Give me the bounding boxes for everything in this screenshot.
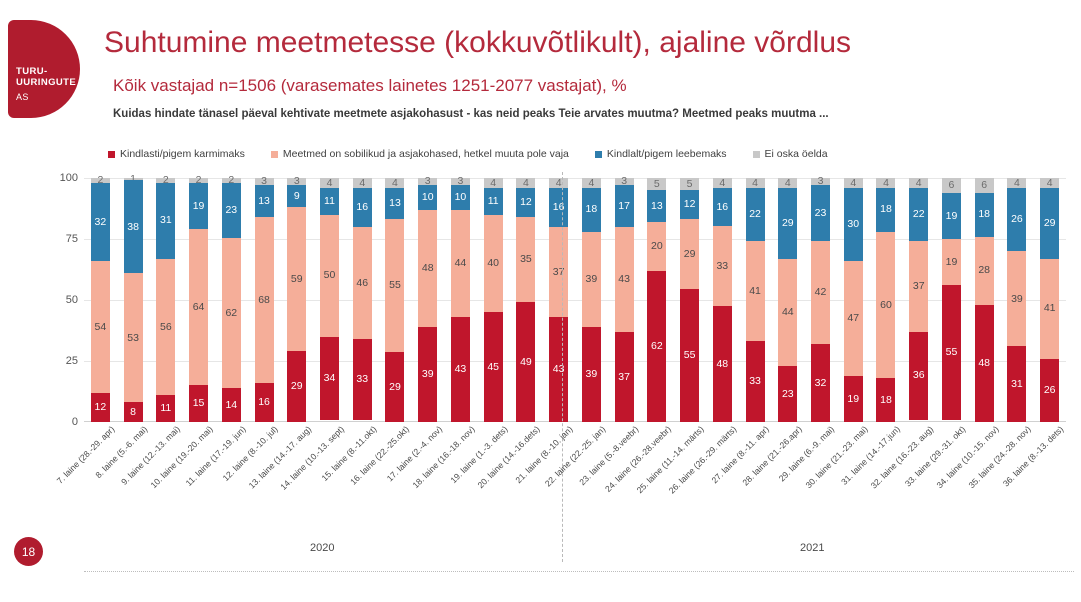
bar-segment-value: 11	[324, 196, 335, 207]
bar-segment-value: 60	[880, 300, 892, 311]
stacked-bar[interactable]: 2196415	[189, 178, 208, 422]
bar-segment[interactable]: 33	[353, 339, 372, 420]
bar-segment[interactable]: 55	[942, 285, 961, 419]
bar-column[interactable]: 3174337	[608, 178, 641, 422]
bar-segment-value: 23	[782, 389, 794, 400]
logo-line-3: AS	[16, 92, 29, 102]
bar-segment[interactable]: 11	[156, 395, 175, 422]
bar-segment-value: 19	[847, 394, 859, 405]
bar-segment-value: 50	[324, 270, 336, 281]
stacked-bar[interactable]: 2315611	[156, 178, 175, 422]
bar-segment-value: 5	[687, 179, 693, 190]
bar-segment-value: 4	[883, 178, 889, 189]
bar-segment-value: 55	[946, 347, 958, 358]
bar-segment[interactable]: 11	[320, 188, 339, 215]
legend-swatch-icon	[271, 151, 278, 158]
y-axis-tick-label: 0	[72, 416, 78, 428]
bar-segment[interactable]: 19	[189, 183, 208, 229]
bar-segment-value: 29	[684, 249, 696, 260]
bar-segment[interactable]: 26	[1007, 188, 1026, 251]
bar-column[interactable]: 4115034	[313, 178, 346, 422]
stacked-bar[interactable]: 4164633	[353, 178, 372, 422]
bar-segment[interactable]: 29	[778, 188, 797, 259]
bar-segment-value: 6	[949, 180, 955, 191]
bar-segment-value: 48	[978, 358, 990, 369]
bar-segment-value: 22	[913, 209, 925, 220]
bar-segment[interactable]: 34	[320, 337, 339, 420]
page-title: Suhtumine meetmetesse (kokkuvõtlikult), …	[104, 26, 851, 60]
bar-segment[interactable]: 62	[222, 238, 241, 388]
bar-segment-value: 8	[130, 407, 136, 418]
bar-segment[interactable]: 29	[680, 219, 699, 289]
legend-item[interactable]: Ei oska öelda	[753, 148, 828, 160]
bar-segment[interactable]: 54	[91, 261, 110, 393]
bar-segment[interactable]: 12	[516, 188, 535, 217]
bar-segment-value: 5	[654, 179, 660, 190]
bar-segment-value: 29	[782, 218, 794, 229]
bar-segment[interactable]: 23	[811, 185, 830, 241]
bar-segment[interactable]: 43	[451, 317, 470, 422]
bar-segment-value: 48	[716, 359, 728, 370]
bar-segment[interactable]: 37	[615, 332, 634, 422]
bar-segment[interactable]: 39	[582, 327, 601, 422]
bar-segment-value: 62	[651, 341, 663, 352]
bar-segment[interactable]: 20	[647, 222, 666, 271]
bar-segment-value: 40	[487, 258, 499, 269]
bar-segment[interactable]: 53	[124, 273, 143, 402]
bar-segment-value: 11	[488, 196, 499, 207]
bar-segment-value: 29	[291, 381, 303, 392]
legend-label: Kindlalt/pigem leebemaks	[607, 148, 727, 160]
bar-segment[interactable]: 14	[222, 388, 241, 422]
bar-segment[interactable]: 56	[156, 259, 175, 396]
bar-segment-value: 19	[946, 211, 958, 222]
stacked-bar[interactable]: 4183939	[582, 178, 601, 422]
bar-segment-value: 39	[586, 369, 598, 380]
bar-segment-value: 33	[716, 261, 728, 272]
bar-segment-value: 48	[422, 263, 434, 274]
bar-segment[interactable]: 4	[385, 178, 404, 188]
bar-segment[interactable]: 42	[811, 241, 830, 343]
bar-column[interactable]: 5122955	[673, 178, 706, 422]
bar-segment[interactable]: 62	[647, 271, 666, 422]
bar-column[interactable]: 5132062	[640, 178, 673, 422]
bar-segment[interactable]: 60	[876, 232, 895, 378]
bar-segment-value: 4	[752, 178, 758, 189]
x-axis-tick-label: 23. laine (5.-8.veebr)	[577, 424, 640, 487]
legend-label: Kindlasti/pigem karmimaks	[120, 148, 245, 160]
chart-subtitle: Kõik vastajad n=1506 (varasemates lainet…	[113, 76, 627, 96]
bar-column[interactable]: 4186018	[870, 178, 903, 422]
bar-segment[interactable]: 43	[615, 227, 634, 332]
stacked-bar[interactable]: 5132062	[647, 178, 666, 422]
bar-segment-value: 64	[193, 302, 205, 313]
stacked-bar[interactable]: 3136816	[255, 178, 274, 422]
bar-segment-value: 4	[1047, 178, 1053, 189]
bar-segment-value: 43	[618, 274, 630, 285]
bar-segment-value: 39	[1011, 294, 1023, 305]
stacked-bar[interactable]: 395929	[287, 178, 306, 422]
bar-segment[interactable]: 8	[124, 402, 143, 422]
bar-segment[interactable]: 45	[484, 312, 503, 422]
bar-segment[interactable]: 5	[647, 178, 666, 190]
bar-segment-value: 20	[651, 241, 663, 252]
x-axis-tick-label: 9. laine (12.-13. mai)	[119, 424, 182, 487]
legend-swatch-icon	[753, 151, 760, 158]
bar-segment-value: 43	[455, 364, 467, 375]
bar-column[interactable]: 4294423	[771, 178, 804, 422]
bar-column[interactable]: 4164633	[346, 178, 379, 422]
bar-segment[interactable]: 23	[222, 183, 241, 239]
stacked-bar[interactable]: 5122955	[680, 178, 699, 422]
y-axis-tick-label: 75	[66, 233, 78, 245]
bar-segment[interactable]: 26	[1040, 359, 1059, 422]
x-axis-tick-label: 35. laine (24.-28. nov)	[967, 424, 1033, 490]
bar-segment-value: 4	[490, 178, 496, 189]
bar-segment-value: 32	[95, 217, 107, 228]
bar-segment-value: 15	[193, 398, 205, 409]
bar-segment-value: 46	[356, 278, 368, 289]
bar-segment-value: 10	[455, 192, 467, 203]
bar-segment[interactable]: 15	[189, 385, 208, 422]
stacked-bar[interactable]: 2236214	[222, 178, 241, 422]
bar-segment[interactable]: 39	[1007, 251, 1026, 346]
x-axis-tick-label: 31. laine (14.-17.jun)	[839, 424, 902, 487]
bar-column[interactable]: 4163743	[542, 178, 575, 422]
stacked-bar[interactable]: 3104443	[451, 178, 470, 422]
bar-segment[interactable]: 19	[844, 376, 863, 422]
bar-segment[interactable]: 4	[549, 178, 568, 188]
bar-segment-value: 49	[520, 357, 532, 368]
stacked-bar[interactable]: 3104839	[418, 178, 437, 422]
bar-segment[interactable]: 29	[287, 351, 306, 422]
stacked-bar[interactable]: 138538	[124, 178, 143, 422]
bar-segment-value: 9	[294, 191, 300, 202]
bar-segment[interactable]: 3	[811, 178, 830, 185]
bar-segment[interactable]: 29	[385, 352, 404, 422]
bar-segment[interactable]: 4	[320, 178, 339, 188]
bar-segment[interactable]: 33	[713, 226, 732, 306]
x-axis-tick-label: 7. laine (28.-29. apr)	[55, 424, 117, 486]
bar-segment[interactable]: 55	[385, 219, 404, 352]
bar-segment[interactable]: 12	[91, 393, 110, 422]
bar-segment-value: 54	[95, 322, 107, 333]
bar-segment[interactable]: 44	[451, 210, 470, 317]
bar-column[interactable]: 3136816	[248, 178, 281, 422]
bar-segment[interactable]: 10	[451, 185, 470, 209]
bar-segment[interactable]: 50	[320, 215, 339, 337]
bar-segment[interactable]: 18	[582, 188, 601, 232]
x-axis-tick-label: 19. laine (1.-3. dets)	[448, 424, 509, 485]
bar-segment[interactable]: 32	[811, 344, 830, 422]
bar-segment-value: 41	[1044, 303, 1056, 314]
bar-segment[interactable]: 4	[516, 178, 535, 188]
bar-segment[interactable]: 18	[876, 188, 895, 232]
bar-segment-value: 36	[913, 370, 925, 381]
bar-segment-value: 33	[749, 376, 761, 387]
bar-segment-value: 38	[127, 222, 139, 233]
x-axis-tick-label: 16. laine (22.-25.okt)	[348, 424, 411, 487]
x-axis-tick-label: 14. laine (10.-13. sept)	[278, 424, 346, 492]
bar-column[interactable]: 4224133	[739, 178, 772, 422]
stacked-bar[interactable]: 3234232	[811, 178, 830, 422]
stacked-bar[interactable]: 4114045	[484, 178, 503, 422]
bar-segment-value: 4	[588, 178, 594, 189]
y-axis-tick-label: 25	[66, 355, 78, 367]
bar-column[interactable]: 395929	[280, 178, 313, 422]
bar-segment[interactable]: 13	[385, 188, 404, 219]
bar-segment[interactable]: 16	[353, 188, 372, 227]
stacked-bar[interactable]: 4304719	[844, 178, 863, 422]
bar-segment[interactable]: 49	[516, 302, 535, 422]
bar-segment-value: 12	[520, 197, 532, 208]
bar-segment[interactable]: 4	[746, 178, 765, 188]
bar-segment[interactable]: 16	[549, 188, 568, 227]
bar-segment-value: 31	[1011, 379, 1023, 390]
bar-column[interactable]: 4223736	[902, 178, 935, 422]
stacked-bar[interactable]: 4163743	[549, 178, 568, 422]
bar-group-container: 2325412138538231561121964152236214313681…	[84, 178, 1066, 422]
x-axis-tick-label: 10. laine (19.-20. mai)	[148, 424, 214, 490]
bar-segment[interactable]: 22	[909, 188, 928, 242]
bar-segment-value: 39	[586, 274, 598, 285]
bar-segment[interactable]: 4	[484, 178, 503, 188]
bar-segment-value: 28	[978, 265, 990, 276]
bar-segment[interactable]: 6	[942, 178, 961, 193]
bar-column[interactable]: 2325412	[84, 178, 117, 422]
bar-segment-value: 23	[815, 208, 827, 219]
bar-segment-value: 55	[684, 350, 696, 361]
bar-segment[interactable]: 3	[287, 178, 306, 185]
legend-item[interactable]: Kindlalt/pigem leebemaks	[595, 148, 727, 160]
year-band-2021: 2021	[800, 542, 824, 554]
stacked-bar[interactable]: 6182848	[975, 178, 994, 422]
bar-segment[interactable]: 37	[549, 227, 568, 317]
bar-segment-value: 18	[880, 204, 892, 215]
bar-segment-value: 53	[127, 333, 139, 344]
bar-segment[interactable]: 48	[713, 306, 732, 422]
bar-segment-value: 6	[981, 180, 987, 191]
y-axis-tick-label: 50	[66, 294, 78, 306]
legend-swatch-icon	[108, 151, 115, 158]
bar-column[interactable]: 4163348	[706, 178, 739, 422]
bar-segment[interactable]: 4	[1007, 178, 1026, 188]
bar-segment-value: 16	[258, 397, 270, 408]
bar-segment-value: 16	[356, 202, 368, 213]
bar-segment[interactable]: 36	[909, 332, 928, 420]
bar-segment[interactable]: 38	[124, 180, 143, 273]
bar-segment[interactable]: 12	[680, 190, 699, 219]
bar-segment-value: 11	[160, 403, 171, 414]
bar-column[interactable]: 4183939	[575, 178, 608, 422]
bar-segment-value: 16	[716, 202, 728, 213]
bar-column[interactable]: 2236214	[215, 178, 248, 422]
bar-segment-value: 33	[356, 374, 368, 385]
bar-segment-value: 19	[946, 257, 958, 268]
bar-segment[interactable]: 4	[713, 178, 732, 188]
stacked-bar[interactable]: 4135529	[385, 178, 404, 422]
bar-segment-value: 56	[160, 322, 172, 333]
bar-segment[interactable]: 4	[778, 178, 797, 188]
stacked-bar[interactable]: 6191955	[942, 178, 961, 422]
stacked-bar[interactable]: 4163348	[713, 178, 732, 422]
bar-segment-value: 31	[160, 215, 172, 226]
bar-column[interactable]: 4304719	[837, 178, 870, 422]
bar-segment[interactable]: 68	[255, 217, 274, 383]
stacked-bar[interactable]: 4224133	[746, 178, 765, 422]
bar-segment[interactable]: 5	[680, 178, 699, 190]
stacked-bar[interactable]: 4115034	[320, 178, 339, 422]
bar-segment[interactable]: 59	[287, 207, 306, 351]
bar-segment[interactable]: 4	[353, 178, 372, 188]
bar-segment-value: 4	[850, 178, 856, 189]
bar-column[interactable]: 4135529	[379, 178, 412, 422]
bar-segment[interactable]: 4	[1040, 178, 1059, 188]
bar-segment-value: 42	[815, 287, 827, 298]
x-axis-labels: 7. laine (28.-29. apr)8. laine (5.-6. ma…	[84, 424, 1066, 534]
bar-column[interactable]: 6182848	[968, 178, 1001, 422]
bar-segment[interactable]: 10	[418, 185, 437, 209]
bar-column[interactable]: 3104839	[411, 178, 444, 422]
bar-segment[interactable]: 32	[91, 183, 110, 261]
stacked-bar[interactable]: 4263931	[1007, 178, 1026, 422]
bar-column[interactable]: 6191955	[935, 178, 968, 422]
x-axis-tick-label: 21. laine (8.-10. jan)	[514, 424, 575, 485]
bar-segment[interactable]: 31	[1007, 346, 1026, 422]
bar-column[interactable]: 2196415	[182, 178, 215, 422]
stacked-bar[interactable]: 4223736	[909, 178, 928, 422]
bar-segment-value: 18	[978, 209, 990, 220]
stacked-bar[interactable]: 2325412	[91, 178, 110, 422]
bar-segment-value: 37	[618, 372, 630, 383]
bar-column[interactable]: 4294126	[1033, 178, 1066, 422]
bar-segment[interactable]: 18	[975, 193, 994, 237]
x-axis-tick-label: 30. laine (21.-23. mai)	[803, 424, 869, 490]
bar-segment[interactable]: 3	[451, 178, 470, 185]
bar-segment[interactable]: 37	[909, 241, 928, 331]
bar-segment[interactable]: 3	[418, 178, 437, 185]
bar-segment[interactable]: 13	[255, 185, 274, 217]
bar-segment[interactable]: 18	[876, 378, 895, 422]
bar-segment-value: 29	[389, 382, 401, 393]
bar-column[interactable]: 3234232	[804, 178, 837, 422]
bar-segment-value: 13	[258, 196, 270, 207]
bar-column[interactable]: 4123549	[510, 178, 543, 422]
chart-legend: Kindlasti/pigem karmimaksMeetmed on sobi…	[108, 148, 854, 160]
x-axis-tick-label: 13. laine (14.-17. aug)	[246, 424, 313, 491]
legend-item[interactable]: Kindlasti/pigem karmimaks	[108, 148, 245, 160]
bar-segment[interactable]: 39	[582, 232, 601, 327]
bar-segment[interactable]: 41	[746, 241, 765, 341]
bar-segment[interactable]: 9	[287, 185, 306, 207]
bar-segment[interactable]: 64	[189, 229, 208, 385]
logo-line-2: UURINGUTE	[16, 77, 76, 88]
bar-column[interactable]: 138538	[117, 178, 150, 422]
x-axis-tick-label: 33. laine (29.-31. okt)	[903, 424, 968, 489]
bar-segment-value: 59	[291, 274, 303, 285]
logo-line-1: TURU-	[16, 66, 48, 77]
bar-segment-value: 19	[193, 201, 205, 212]
bar-segment[interactable]: 40	[484, 215, 503, 313]
bar-segment[interactable]: 28	[975, 237, 994, 305]
bar-segment[interactable]: 39	[418, 327, 437, 422]
y-axis: 0255075100	[44, 171, 78, 422]
bar-segment[interactable]: 4	[876, 178, 895, 188]
bar-segment[interactable]: 31	[156, 183, 175, 259]
bar-segment[interactable]: 19	[942, 193, 961, 239]
bar-column[interactable]: 4263931	[1001, 178, 1034, 422]
legend-label: Meetmed on sobilikud ja asjakohased, het…	[283, 148, 569, 160]
bar-segment[interactable]: 4	[582, 178, 601, 188]
bar-segment[interactable]: 43	[549, 317, 568, 422]
bar-segment-value: 47	[847, 313, 859, 324]
bar-segment[interactable]: 29	[1040, 188, 1059, 259]
legend-item[interactable]: Meetmed on sobilikud ja asjakohased, het…	[271, 148, 569, 160]
bar-segment[interactable]: 6	[975, 178, 994, 193]
bar-segment[interactable]: 16	[713, 188, 732, 227]
bar-segment-value: 12	[684, 199, 696, 210]
bar-segment[interactable]: 41	[1040, 259, 1059, 359]
stacked-bar[interactable]: 4294126	[1040, 178, 1059, 422]
bar-segment[interactable]: 44	[778, 259, 797, 366]
bar-segment[interactable]: 17	[615, 185, 634, 226]
page-number-badge: 18	[14, 537, 43, 566]
bar-segment-value: 14	[225, 400, 237, 411]
x-axis-tick-label: 36. laine (8.-13. dets)	[1001, 424, 1066, 489]
stacked-bar[interactable]: 4186018	[876, 178, 895, 422]
bar-segment[interactable]: 55	[680, 289, 699, 422]
bar-segment-value: 4	[359, 178, 365, 189]
company-logo: TURU- UURINGUTE AS	[8, 20, 80, 118]
bar-segment[interactable]: 33	[746, 341, 765, 422]
bar-segment[interactable]: 3	[615, 178, 634, 185]
bar-segment[interactable]: 13	[647, 190, 666, 222]
bar-segment[interactable]: 46	[353, 227, 372, 339]
bar-segment[interactable]: 23	[778, 366, 797, 422]
stacked-bar[interactable]: 3174337	[615, 178, 634, 422]
bar-segment-value: 35	[520, 254, 532, 265]
bar-segment-value: 10	[422, 192, 434, 203]
bar-segment[interactable]: 3	[255, 178, 274, 185]
bar-segment[interactable]: 48	[418, 210, 437, 327]
legend-swatch-icon	[595, 151, 602, 158]
stacked-bar[interactable]: 4123549	[516, 178, 535, 422]
bar-segment-value: 26	[1011, 214, 1023, 225]
bar-column[interactable]: 2315611	[149, 178, 182, 422]
bar-segment-value: 32	[815, 378, 827, 389]
bar-column[interactable]: 4114045	[477, 178, 510, 422]
bar-segment-value: 4	[719, 178, 725, 189]
bar-segment[interactable]: 35	[516, 217, 535, 302]
bar-segment[interactable]: 48	[975, 305, 994, 422]
bar-segment[interactable]: 4	[909, 178, 928, 188]
bar-segment[interactable]: 11	[484, 188, 503, 215]
x-axis-tick-label: 15. laine (8.-11.okt)	[319, 424, 378, 483]
bar-segment[interactable]: 19	[942, 239, 961, 285]
x-axis-tick-label: 27. laine (8.-11. apr)	[710, 424, 771, 485]
bar-column[interactable]: 3104443	[444, 178, 477, 422]
bar-segment[interactable]: 16	[255, 383, 274, 422]
bar-segment-value: 62	[225, 308, 237, 319]
bar-segment-value: 13	[389, 198, 401, 209]
stacked-bar[interactable]: 4294423	[778, 178, 797, 422]
bar-segment[interactable]: 47	[844, 261, 863, 376]
bar-segment[interactable]: 30	[844, 188, 863, 261]
bar-segment[interactable]: 22	[746, 188, 765, 242]
x-axis-tick-label: 18. laine (16.-18. nov)	[410, 424, 476, 490]
bar-segment-value: 4	[1014, 178, 1020, 189]
bar-segment[interactable]: 4	[844, 178, 863, 188]
